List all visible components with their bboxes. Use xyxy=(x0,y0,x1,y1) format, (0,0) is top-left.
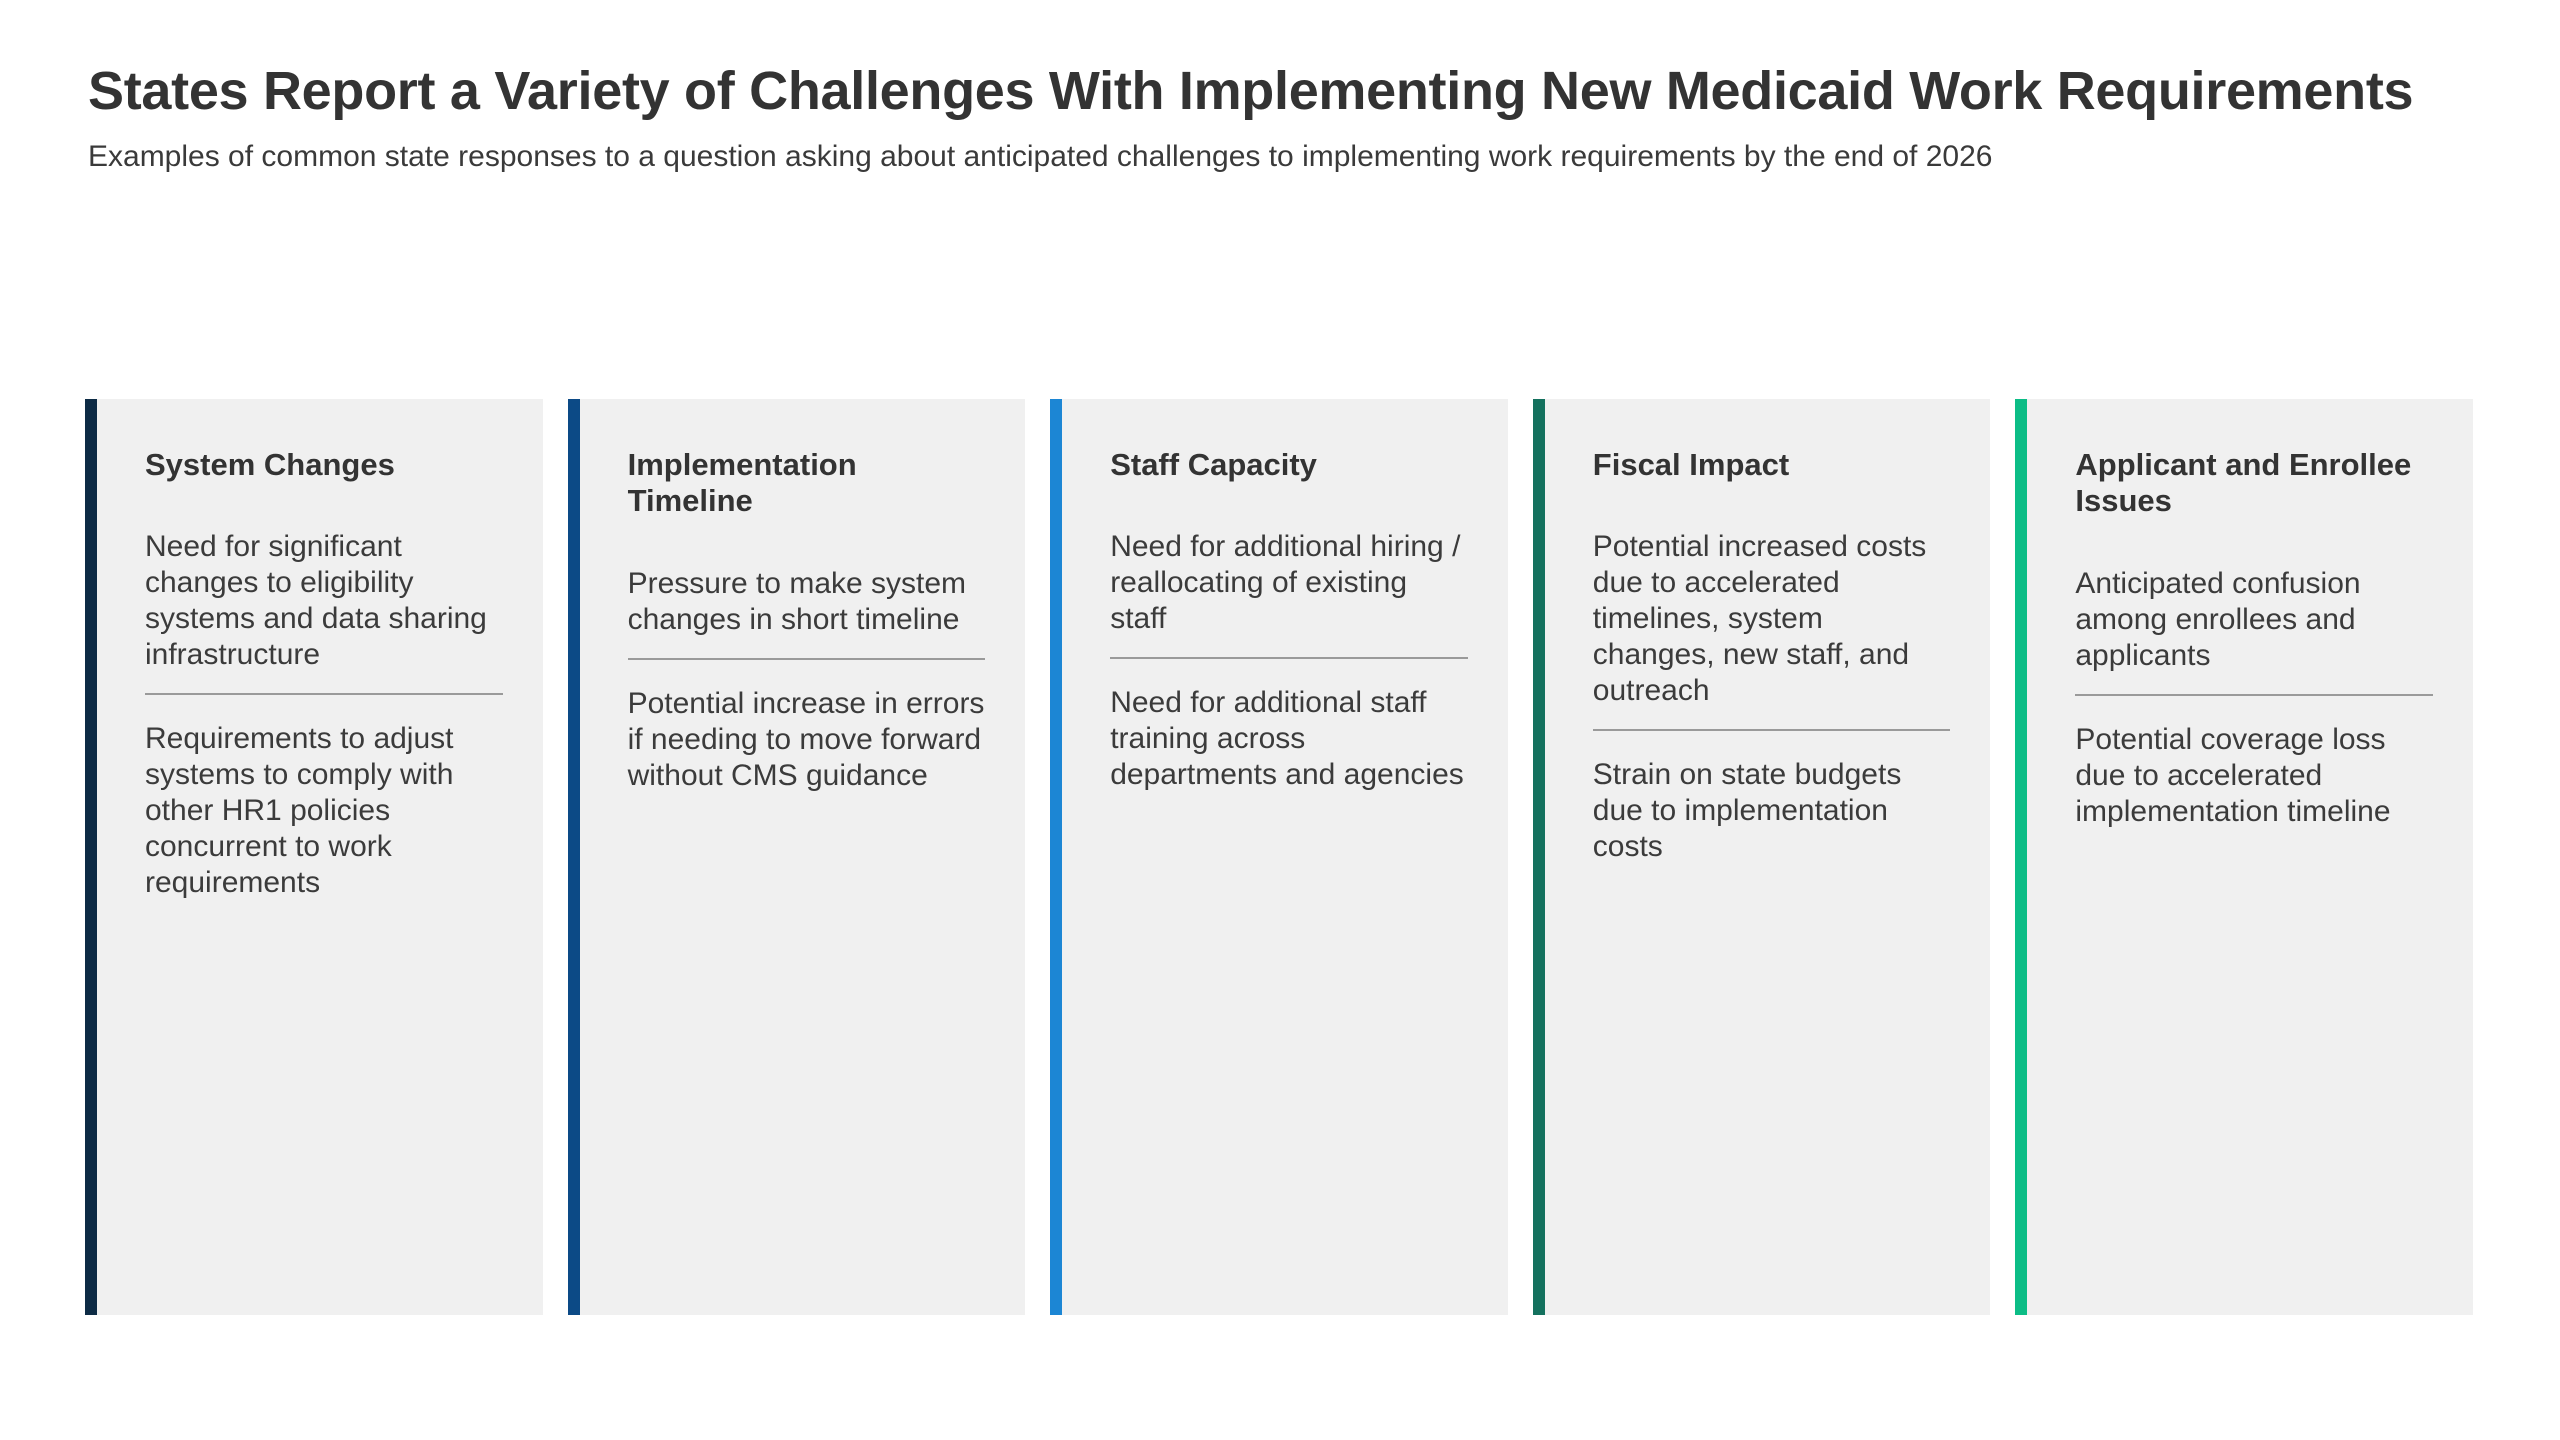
card-accent-bar xyxy=(1533,399,1545,1315)
card-item: Potential coverage loss due to accelerat… xyxy=(2075,694,2433,830)
card-accent-bar xyxy=(1050,399,1062,1315)
infographic-page: States Report a Variety of Challenges Wi… xyxy=(0,0,2560,1440)
card-item: Strain on state budgets due to implement… xyxy=(1593,729,1951,865)
card-body: Fiscal Impact Potential increased costs … xyxy=(1545,399,1991,1315)
challenge-card: Staff Capacity Need for additional hirin… xyxy=(1050,399,1508,1315)
challenge-card: System Changes Need for significant chan… xyxy=(85,399,543,1315)
card-item-list: Potential increased costs due to acceler… xyxy=(1593,529,1951,865)
card-accent-bar xyxy=(568,399,580,1315)
card-item: Requirements to adjust systems to comply… xyxy=(145,693,503,901)
card-item: Need for additional staff training acros… xyxy=(1110,657,1468,793)
challenge-card: Applicant and Enrollee Issues Anticipate… xyxy=(2015,399,2473,1315)
challenge-card: Fiscal Impact Potential increased costs … xyxy=(1533,399,1991,1315)
page-subtitle: Examples of common state responses to a … xyxy=(88,137,2470,177)
page-title: States Report a Variety of Challenges Wi… xyxy=(88,60,2428,123)
card-item: Need for significant changes to eligibil… xyxy=(145,529,503,673)
card-body: Applicant and Enrollee Issues Anticipate… xyxy=(2027,399,2473,1315)
card-item-list: Need for additional hiring / reallocatin… xyxy=(1110,529,1468,793)
card-title: System Changes xyxy=(145,447,503,483)
card-body: Implementation Timeline Pressure to make… xyxy=(580,399,1026,1315)
header: States Report a Variety of Challenges Wi… xyxy=(0,0,2560,176)
card-item-list: Pressure to make system changes in short… xyxy=(628,566,986,794)
card-item: Anticipated confusion among enrollees an… xyxy=(2075,566,2433,674)
card-item-list: Anticipated confusion among enrollees an… xyxy=(2075,566,2433,830)
card-title: Staff Capacity xyxy=(1110,447,1468,483)
card-body: System Changes Need for significant chan… xyxy=(97,399,543,1315)
card-item: Potential increased costs due to acceler… xyxy=(1593,529,1951,709)
card-body: Staff Capacity Need for additional hirin… xyxy=(1062,399,1508,1315)
card-item: Potential increase in errors if needing … xyxy=(628,658,986,794)
card-item: Pressure to make system changes in short… xyxy=(628,566,986,638)
card-item-list: Need for significant changes to eligibil… xyxy=(145,529,503,901)
challenge-card: Implementation Timeline Pressure to make… xyxy=(568,399,1026,1315)
challenge-card-list: System Changes Need for significant chan… xyxy=(85,399,2473,1315)
card-accent-bar xyxy=(85,399,97,1315)
card-title: Implementation Timeline xyxy=(628,447,986,520)
card-item: Need for additional hiring / reallocatin… xyxy=(1110,529,1468,637)
card-title: Applicant and Enrollee Issues xyxy=(2075,447,2433,520)
card-title: Fiscal Impact xyxy=(1593,447,1951,483)
card-accent-bar xyxy=(2015,399,2027,1315)
